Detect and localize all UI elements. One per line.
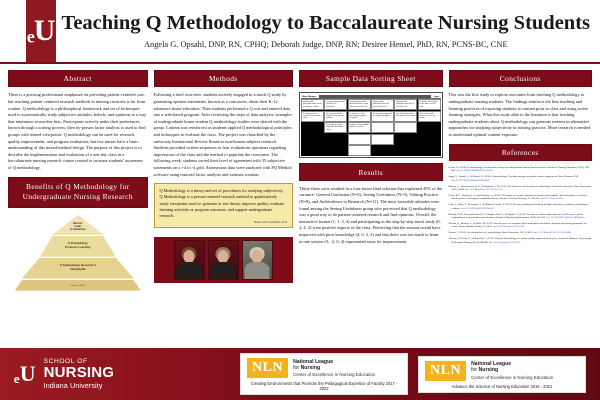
nln-line-3: Center of Excellence in Nursing Educatio… [471,375,553,380]
reference-item: Lohr, V., Polter, A., Beermann, S., & Hü… [449,203,592,210]
sorting-cell-empty [301,145,324,156]
nln-line-2-bold: Nursing [301,365,321,371]
pyramid-base-citation: (Hensel, 2016) [15,280,141,291]
sorting-cell [348,145,371,156]
poster-footer: ₑ⁣U SCHOOL OF NURSING Indiana University… [0,348,600,400]
sorting-cell-empty [418,134,441,145]
iu-trident-icon: ₑ⁣U [27,16,54,46]
page-title: Teaching Q Methodology to Baccalaureate … [62,13,590,35]
iu-logo-block: ₑ⁣U [26,0,56,62]
nln-text-block: National League for Nursing Center of Ex… [471,361,553,380]
abstract-body: There is a growing professional emphasiz… [8,92,148,171]
nln-logo-icon: NLN [247,358,288,378]
sorting-cell: less agreement statements placed here by… [324,99,347,110]
pyramid-tier-2-label: Q Methodology Promotes Learning [57,242,98,250]
benefits-pyramid-diagram: Discover Leads to Satisfaction Q Methodo… [8,215,148,291]
nln-logo-icon: NLN [425,361,466,381]
reference-item: Leach, M. J., Hofmeyer, A., and Bobridge… [449,194,592,201]
benefits-heading-line1: Benefits of Q Methodology for [11,182,145,192]
reference-doi[interactable]: doi: 10.7748/nr2015.11.21.2.24.e1310 [465,188,502,191]
reference-doi[interactable]: doi: 10.3928/01484834-20161114-10 [456,169,492,172]
nln-tagline: Creating Environments that Promote the P… [247,381,401,391]
pyramid-tier-1-label: Discover Leads to Satisfaction [54,222,102,231]
q-methodology-definition-callout: Q Methodology is a theory and set of pro… [154,183,294,228]
author-photo-strip [154,237,294,283]
sorting-cell: there was too much content to learn in o… [418,111,441,122]
pyramid-tier-3: Q Methodology Research is Meaningful [22,258,134,279]
reference-doi[interactable]: doi:10.1111/jocn.13103 [540,197,563,200]
sorting-scale-right-label: Agree [433,95,439,98]
sorting-cell-empty [394,134,417,145]
section-heading-abstract: Abstract [8,70,148,87]
school-name-lines: SCHOOL OF NURSING Indiana University [44,358,115,390]
nln-logo-row: NLN National League for Nursing Center o… [425,361,579,381]
reference-item: Hensel, D. (2016). Q methodology: An alt… [449,166,592,173]
sorting-cell: the step-by-step mock study made the met… [324,122,347,133]
poster-root: ₑ⁣U Teaching Q Methodology to Baccalaure… [0,0,600,400]
methods-body: Following a brief overview, students act… [154,92,294,178]
sorting-scale-left-label: Most Disagree [302,95,317,98]
sorting-cell: neutral statements that participants had… [348,99,371,110]
pyramid-tier-3-label: Q Methodology Research is Meaningful [52,264,104,272]
sorting-cell: examples of honor student studies were u… [348,122,371,133]
section-heading-conclusions: Conclusions [449,70,592,87]
section-heading-methods: Methods [154,70,294,87]
reference-text: Simons, J. (2013). An introduction to Q … [449,231,534,234]
callout-source: Hensel, 2016; and Ramlo, 2016 [160,221,288,224]
nln-line-2: for Nursing [293,365,375,371]
sorting-grid: statements that participants sorted into… [301,99,440,156]
reference-item: Kilfoon, L., Timmermann, R. D., & Raymon… [449,185,592,192]
sorting-cell-empty [301,122,324,133]
poster-header: ₑ⁣U Teaching Q Methodology to Baccalaure… [0,0,600,64]
sorting-cell: statements that participants sorted into… [301,99,324,110]
column-sorting-and-results: Sample Data Sorting Sheet Most Disagree … [299,70,442,346]
sorting-cell: prior knowledge would have improved the … [394,111,417,122]
poster-body: Abstract There is a growing professional… [0,64,600,348]
conclusions-body: This was the first study to explore outc… [449,92,592,138]
sorting-cell-empty [418,145,441,156]
results-body: Thirty-three sorts resulted in a four-fa… [299,186,442,245]
sorting-cell: statements that participants somewhat ag… [371,99,394,110]
sorting-cell-empty [394,145,417,156]
sample-data-sorting-sheet: Most Disagree Agree statements that part… [299,92,442,158]
reference-doi[interactable]: doi: 10.1016/j.jogn.2017.04.135 [489,241,520,244]
reference-item: Simons, J. (2013). An introduction to Q … [449,231,592,234]
author-photo [242,240,273,280]
callout-body: Q Methodology is a theory and set of pro… [160,188,288,219]
sorting-cell-empty [324,134,347,145]
author-photo [208,240,239,280]
reference-text: Leach, M. J., Hofmeyer, A., and Bobridge… [449,194,588,200]
sorting-cell: I was able to see how factor analysis gr… [348,111,371,122]
pyramid-tier-2: Q Methodology Promotes Learning [40,236,116,257]
reference-item: Judge, D., Opsahl, A., & Hensel, D. (201… [449,175,592,182]
section-heading-benefits: Benefits of Q Methodology for Undergradu… [8,177,148,208]
nln-line-2: for Nursing [471,367,553,373]
benefits-heading-line2: Undergraduate Nursing Research [11,192,145,202]
reference-item: Thomas, P., Hensel, D., & Ray-Rist, L. (… [449,237,592,244]
author-photo [174,240,205,280]
reference-item: Melnyk, B. M., Fineout-Overholt, E., Gal… [449,213,592,220]
reference-doi[interactable]: doi: 10.1007/s10459-012-9405-9 [461,207,493,210]
header-text-group: Teaching Q Methodology to Baccalaureate … [56,0,600,62]
nln-line-2-prefix: for [293,365,301,371]
column-abstract: Abstract There is a growing professional… [8,70,148,346]
nln-line-2-prefix: for [471,367,479,373]
nln-line-3: Center of Excellence in Nursing Educatio… [293,372,375,377]
sorting-cell: the concourse activity helped me form my… [324,111,347,122]
nln-tagline: Advance the Science of Nursing Education… [425,384,579,389]
school-line-2: NURSING [44,365,115,380]
pyramid-tier-1: Discover Leads to Satisfaction [52,215,104,235]
sorting-cell [348,134,371,145]
sorting-cell-empty [371,145,394,156]
reference-doi[interactable]: doi: 10.7748/nr2013.01.20.3.28.c9494 [534,231,571,234]
sorting-cell-empty [418,122,441,133]
sorting-cell: Q sorting was a new experience for me in… [301,111,324,122]
nln-award-card: NLN National League for Nursing Center o… [240,353,408,395]
school-of-nursing-lockup: ₑ⁣U SCHOOL OF NURSING Indiana University [14,358,114,390]
reference-doi[interactable]: doi:10.1097/NNE.0000000000000563 [452,179,490,182]
column-conclusions-references: Conclusions This was the first study to … [449,70,592,346]
nln-award-card: NLN National League for Nursing Center o… [418,356,586,393]
nln-text-block: National League for Nursing Center of Ex… [293,359,375,378]
sorting-cell-empty [324,145,347,156]
sorting-cell: I found the class helpful for my future … [418,99,441,110]
iu-trident-icon: ₑ⁣U [14,363,36,385]
section-heading-sorting-sheet: Sample Data Sorting Sheet [299,70,442,87]
reference-item: Sherriff, K., Burston, S., & Wallis, M. … [449,222,592,229]
section-heading-results: Results [299,163,442,180]
sorting-cell [371,122,394,133]
school-line-3: Indiana University [44,381,115,390]
sorting-cell [394,122,417,133]
column-methods: Methods Following a brief overview, stud… [154,70,294,346]
nln-line-2-bold: Nursing [479,367,499,373]
sorting-cell: statements that participants most agreed… [394,99,417,110]
sorting-cell: the interactive format kept me engaged t… [371,111,394,122]
reference-list: Hensel, D. (2016). Q methodology: An alt… [449,166,592,246]
nln-logo-row: NLN National League for Nursing Center o… [247,358,401,378]
sorting-scale-bar [319,95,432,98]
section-heading-references: References [449,144,592,161]
pyramid-citation-label: (Hensel, 2016) [62,284,93,287]
sorting-cell-empty [301,134,324,145]
sorting-cell [371,134,394,145]
reference-doi[interactable]: doi: 10.1097/NNA.0b013e3182664e0a [546,216,584,219]
reference-doi[interactable]: doi:10.1016/j.nedt.2011.01.020 [494,225,525,228]
author-list: Angela G. Opsahl, DNP, RN, CPHQ; Deborah… [144,40,508,49]
